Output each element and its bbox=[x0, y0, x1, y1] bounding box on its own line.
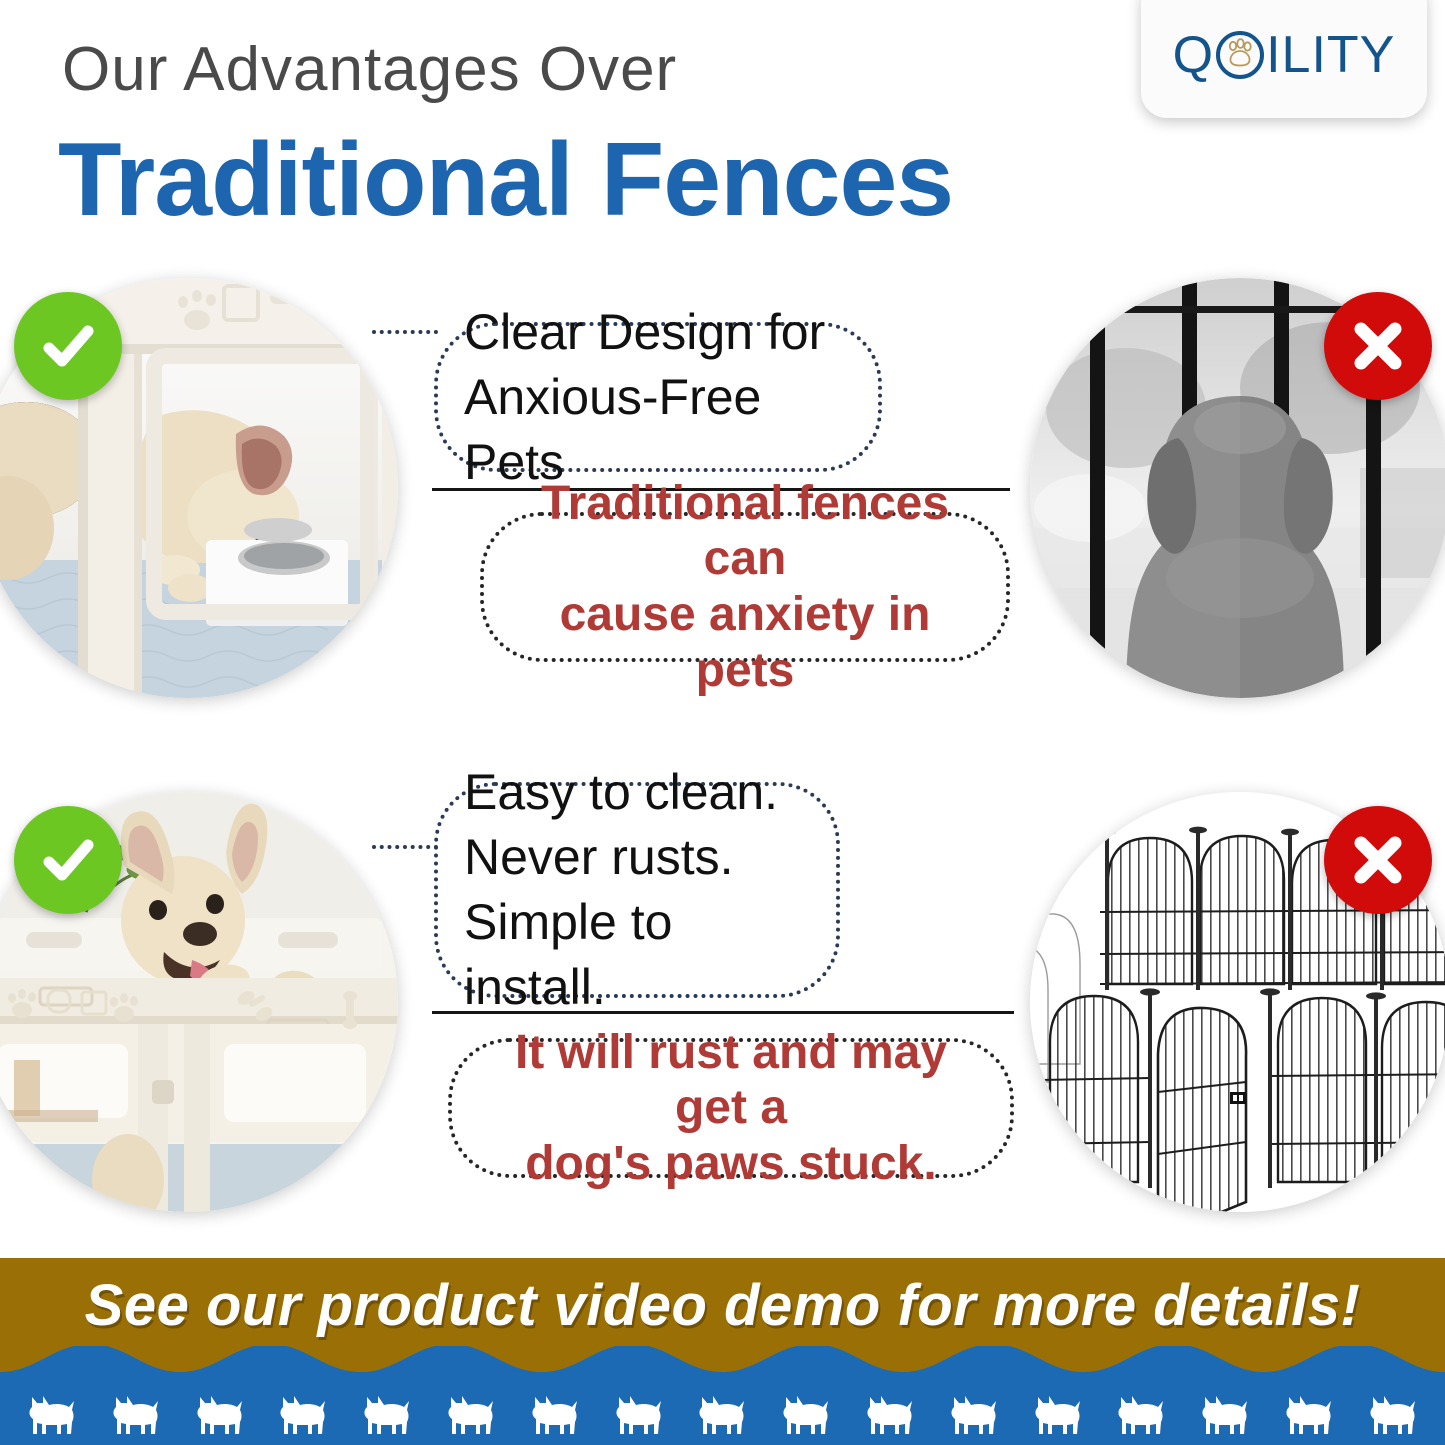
page-title: Traditional Fences bbox=[58, 126, 953, 235]
walking-cat-icon bbox=[275, 1392, 331, 1438]
walking-cat-icon bbox=[359, 1392, 415, 1438]
banner-cta-text: See our product video demo for more deta… bbox=[0, 1272, 1445, 1339]
callout-bad-2-line-2: dog's paws stuck. bbox=[452, 1136, 1010, 1192]
callout-bad-1: Traditional fences can cause anxiety in … bbox=[480, 512, 1010, 662]
walking-cat-icon bbox=[862, 1392, 918, 1438]
walking-cat-icon bbox=[1197, 1392, 1253, 1438]
walking-cat-icon bbox=[527, 1392, 583, 1438]
walking-cat-icon bbox=[24, 1392, 80, 1438]
walking-cat-icon bbox=[443, 1392, 499, 1438]
walking-cat-icon bbox=[694, 1392, 750, 1438]
callout-good-1: Clear Design for Anxious-Free Pets bbox=[434, 322, 882, 472]
walking-cat-icon bbox=[1365, 1392, 1421, 1438]
callout-good-2-line-1: Easy to clean. bbox=[438, 760, 836, 825]
check-icon bbox=[14, 806, 122, 914]
header-kicker: Our Advantages Over bbox=[62, 34, 677, 105]
callout-good-2: Easy to clean. Never rusts. Simple to in… bbox=[434, 782, 840, 998]
leader-line-row2 bbox=[372, 845, 438, 849]
callout-good-1-line-1: Clear Design for bbox=[438, 300, 878, 365]
walking-cat-icon bbox=[1281, 1392, 1337, 1438]
walking-cat-icon bbox=[192, 1392, 248, 1438]
walking-cat-icon bbox=[108, 1392, 164, 1438]
callout-bad-1-line-2: cause anxiety in pets bbox=[484, 587, 1006, 698]
infographic-page: Our Advantages Over Traditional Fences Q… bbox=[0, 0, 1445, 1445]
callout-bad-2: It will rust and may get a dog's paws st… bbox=[448, 1038, 1014, 1178]
paw-print-icon bbox=[1215, 30, 1265, 80]
walking-cat-icon bbox=[1030, 1392, 1086, 1438]
callout-good-2-line-2: Never rusts. bbox=[438, 825, 836, 890]
bottom-banner: See our product video demo for more deta… bbox=[0, 1258, 1445, 1445]
cross-icon bbox=[1324, 806, 1432, 914]
walking-cat-icon bbox=[946, 1392, 1002, 1438]
check-icon bbox=[14, 292, 122, 400]
callout-bad-2-line-1: It will rust and may get a bbox=[452, 1025, 1010, 1136]
walking-cat-icon bbox=[611, 1392, 667, 1438]
logo-text-before: Q bbox=[1173, 29, 1214, 81]
walking-cat-icon bbox=[778, 1392, 834, 1438]
brand-logo: Q ILITY bbox=[1141, 0, 1427, 118]
leader-line-row1 bbox=[372, 330, 438, 334]
logo-text-after: ILITY bbox=[1266, 29, 1395, 81]
walking-cat-icon bbox=[1113, 1392, 1169, 1438]
cross-icon bbox=[1324, 292, 1432, 400]
callout-bad-1-line-1: Traditional fences can bbox=[484, 476, 1006, 587]
cat-icon-row bbox=[0, 1378, 1445, 1438]
callout-good-2-line-3: Simple to install. bbox=[438, 890, 836, 1020]
